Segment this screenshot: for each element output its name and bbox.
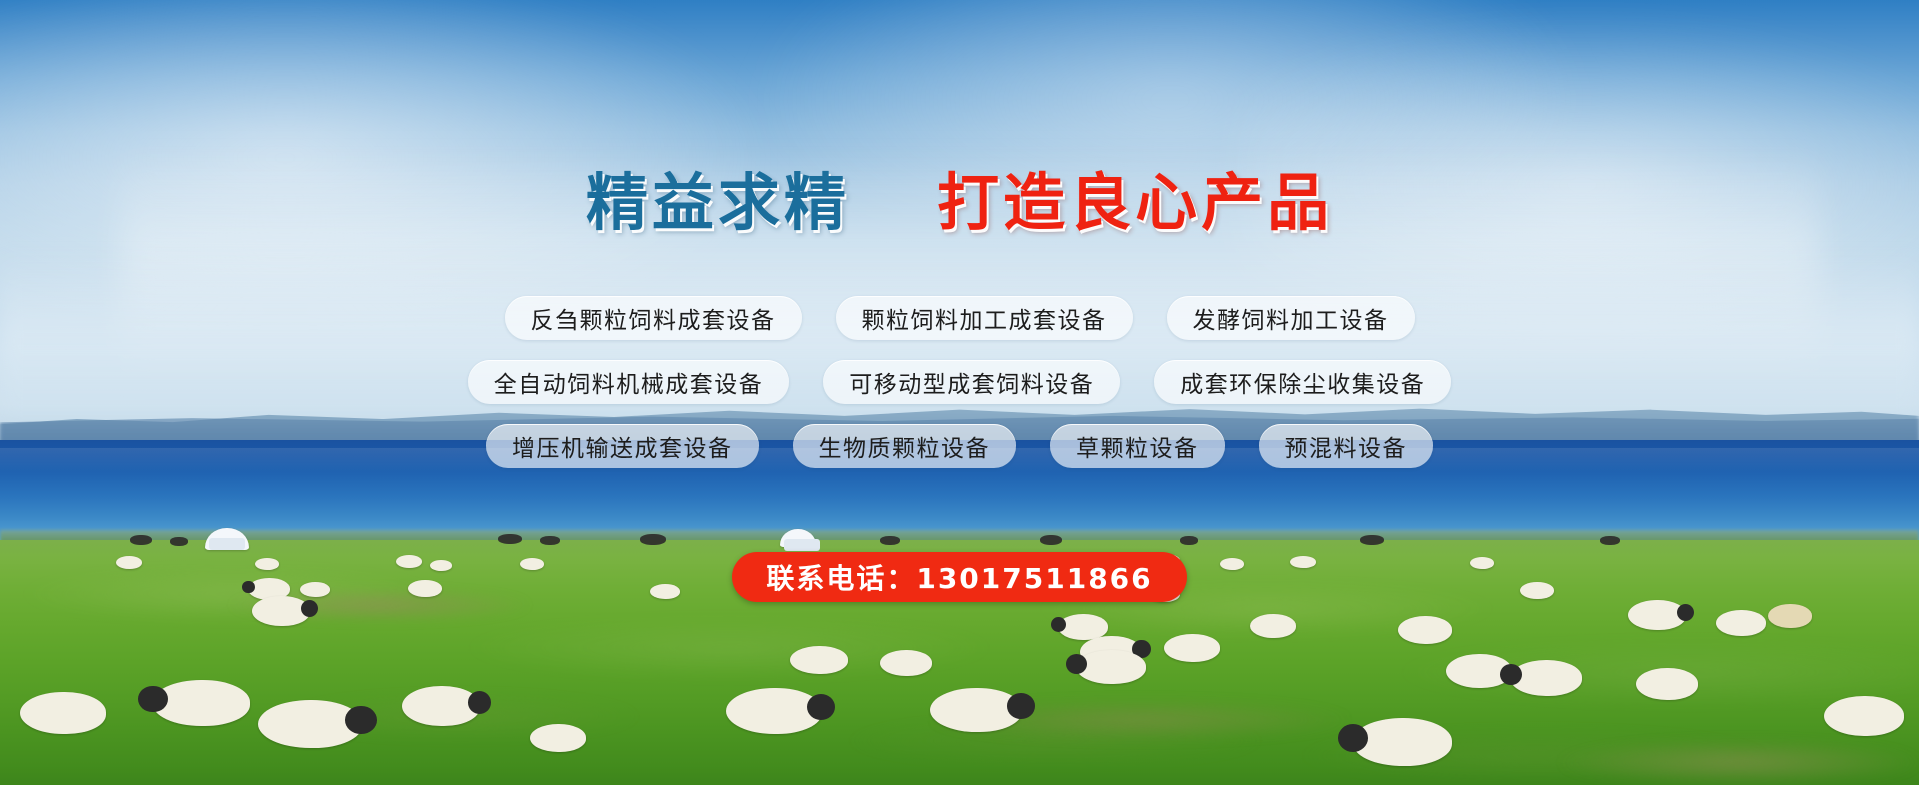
sheep: [880, 650, 932, 676]
product-chip-grass-pellet-equipment[interactable]: 草颗粒设备: [1050, 424, 1225, 468]
sheep: [1716, 610, 1766, 636]
product-chip-automatic-feed-machinery-complete-equipment[interactable]: 全自动饲料机械成套设备: [468, 360, 790, 404]
distant-yak: [1600, 536, 1620, 545]
hero-banner: 精益求精 打造良心产品 反刍颗粒饲料成套设备 颗粒饲料加工成套设备 发酵饲料加工…: [0, 0, 1919, 785]
sheep: [1768, 604, 1812, 628]
product-chip-mobile-complete-feed-equipment[interactable]: 可移动型成套饲料设备: [823, 360, 1120, 404]
distant-yak: [1360, 535, 1384, 545]
sheep: [20, 692, 106, 734]
product-chip-pellet-feed-processing-complete-equipment[interactable]: 颗粒饲料加工成套设备: [836, 296, 1133, 340]
headline-part-blue: 精益求精: [586, 166, 850, 239]
distant-yak: [498, 534, 522, 544]
sheep: [152, 680, 250, 726]
product-chip-environmental-dust-collection-equipment[interactable]: 成套环保除尘收集设备: [1154, 360, 1451, 404]
contact-phone-container: 联系电话：13017511866: [0, 552, 1919, 602]
distant-yak: [880, 536, 900, 545]
sheep: [1824, 696, 1904, 736]
product-chip-ruminant-pellet-feed-complete-equipment[interactable]: 反刍颗粒饲料成套设备: [505, 296, 802, 340]
sheep: [402, 686, 480, 726]
product-category-list: 反刍颗粒饲料成套设备 颗粒饲料加工成套设备 发酵饲料加工设备 全自动饲料机械成套…: [0, 296, 1919, 488]
contact-phone-button[interactable]: 联系电话：13017511866: [732, 552, 1186, 602]
distant-yak: [540, 536, 560, 545]
distant-yak: [640, 534, 666, 545]
sheep: [1250, 614, 1296, 638]
distant-yak: [1040, 535, 1062, 545]
headline-part-red: 打造良心产品: [937, 166, 1333, 239]
sheep: [1164, 634, 1220, 662]
distant-yak: [130, 535, 152, 545]
sheep: [930, 688, 1022, 732]
sheep: [1076, 650, 1146, 684]
sheep: [530, 724, 586, 752]
dirt-patch: [1560, 740, 1919, 785]
sheep: [1636, 668, 1698, 700]
sheep: [790, 646, 848, 674]
sheep: [726, 688, 822, 734]
distant-yak: [1180, 536, 1198, 545]
product-chip-premix-equipment[interactable]: 预混料设备: [1259, 424, 1434, 468]
product-chip-fermented-feed-processing-equipment[interactable]: 发酵饲料加工设备: [1167, 296, 1415, 340]
product-chip-booster-conveying-complete-equipment[interactable]: 增压机输送成套设备: [486, 424, 759, 468]
sheep: [1628, 600, 1686, 630]
sheep: [258, 700, 362, 748]
product-category-row-3: 增压机输送成套设备 生物质颗粒设备 草颗粒设备 预混料设备: [0, 424, 1919, 468]
product-category-row-1: 反刍颗粒饲料成套设备 颗粒饲料加工成套设备 发酵饲料加工设备: [0, 296, 1919, 340]
distant-yak: [170, 537, 188, 546]
sheep: [1352, 718, 1452, 766]
page-title: 精益求精 打造良心产品: [0, 172, 1919, 234]
product-chip-biomass-pellet-equipment[interactable]: 生物质颗粒设备: [793, 424, 1017, 468]
sheep: [1510, 660, 1582, 696]
sheep: [1398, 616, 1452, 644]
product-category-row-2: 全自动饲料机械成套设备 可移动型成套饲料设备 成套环保除尘收集设备: [0, 360, 1919, 404]
